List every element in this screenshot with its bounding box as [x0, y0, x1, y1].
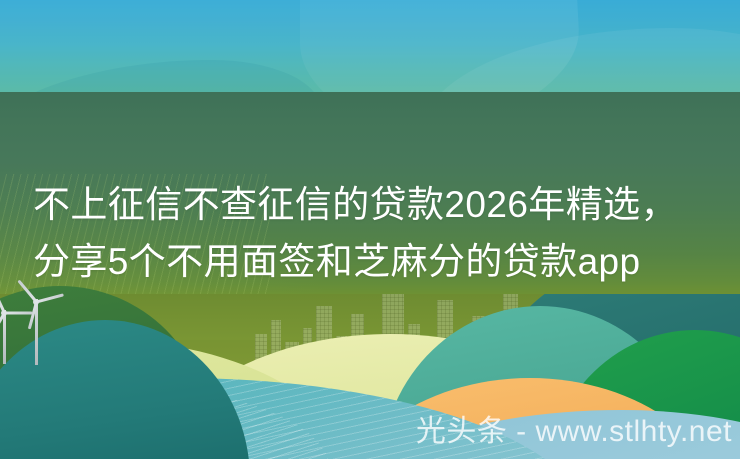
watermark: 光头条 - www.stlhty.net	[416, 414, 732, 450]
turbine-blade	[4, 312, 32, 315]
wind-turbine-icon	[24, 299, 48, 365]
headline-text: 不上征信不查征信的贷款2026年精选， 分享5个不用面签和芝麻分的贷款app	[33, 176, 723, 290]
wind-turbine-icon-secondary	[0, 310, 14, 364]
sky-band	[0, 0, 740, 92]
eco-finance-banner: 不上征信不查征信的贷款2026年精选， 分享5个不用面签和芝麻分的贷款app 光…	[0, 0, 740, 459]
